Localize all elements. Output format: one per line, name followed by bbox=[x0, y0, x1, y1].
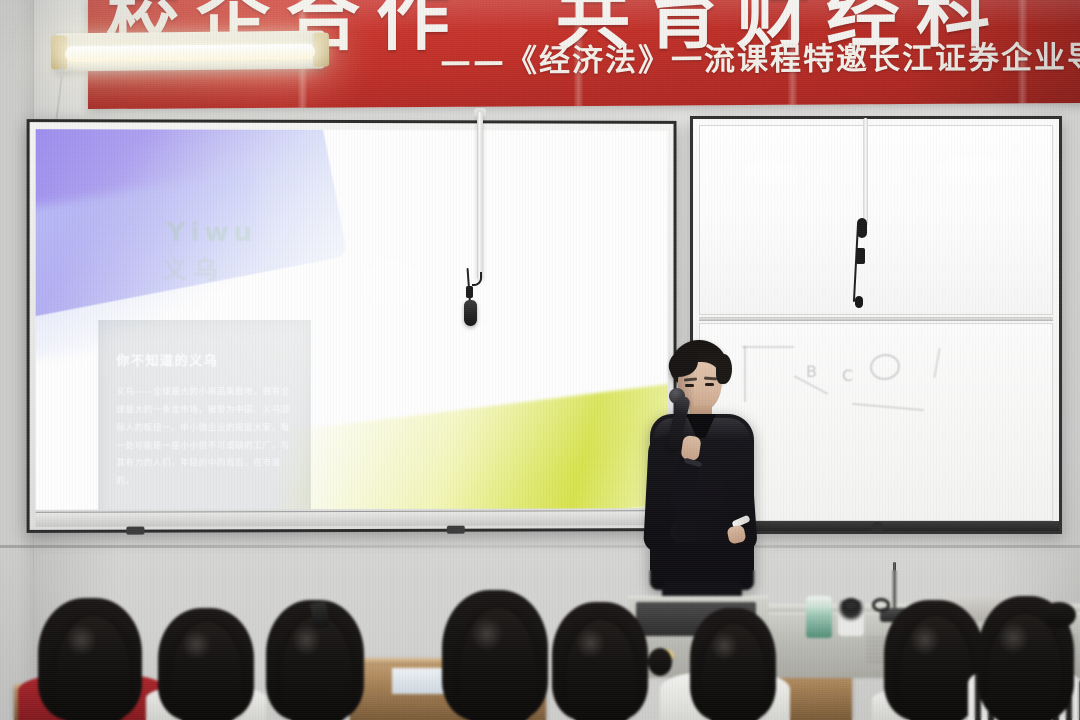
gooseneck-microphone-icon bbox=[893, 562, 896, 614]
slide-body-text: 义乌——全球最大的小商品集散地，拥有全球最大的一条龙市场，被誉为中国、义乌国际人… bbox=[116, 383, 293, 491]
student-hair-bun bbox=[648, 648, 672, 676]
cup-rim bbox=[842, 598, 860, 612]
whiteboard-faint-mark bbox=[852, 403, 924, 411]
speaker-eye bbox=[685, 384, 694, 387]
whiteboard-upper-pane bbox=[699, 125, 1053, 315]
slide-yellow-shape bbox=[275, 380, 667, 510]
whiteboard-letter-b: B bbox=[806, 362, 817, 381]
wall-trim-line bbox=[0, 545, 1080, 548]
whiteboard-glare bbox=[714, 146, 824, 198]
lamp-end-cap bbox=[313, 33, 329, 67]
projection-screen: Yiwu 义乌 你不知道的义乌 义乌——全球最大的小商品集散地，拥有全球最大的一… bbox=[27, 119, 677, 533]
speaker-eye bbox=[705, 383, 714, 386]
whiteboard-letter-c: C bbox=[842, 366, 853, 385]
ceiling-mic-tip bbox=[855, 296, 863, 308]
speaker-hair-side bbox=[716, 354, 732, 384]
thermos-cap bbox=[806, 596, 832, 605]
slide-wordmark-cn: 义乌 bbox=[163, 250, 225, 285]
screen-bottom-bar bbox=[36, 510, 668, 527]
screen-bracket bbox=[447, 526, 465, 534]
slide-wordmark-latin: Yiwu bbox=[167, 218, 258, 248]
classroom-photo: 校企合作 共育财经科 ——《经济法》一流课程特邀长江证券企业导 Yiwu 义乌 … bbox=[0, 0, 1080, 720]
microphone-icon bbox=[464, 300, 477, 326]
ceiling-mic-pole-secondary bbox=[863, 118, 868, 226]
ceiling-mic-clip bbox=[466, 286, 473, 298]
whiteboard-faint-mark bbox=[933, 348, 940, 378]
fluorescent-light-icon bbox=[55, 31, 325, 72]
slide-heading: 你不知道的义乌 bbox=[116, 350, 293, 369]
screen-surface: Yiwu 义乌 你不知道的义乌 义乌——全球最大的小商品集散地，拥有全球最大的一… bbox=[36, 129, 668, 510]
whiteboard-divider bbox=[699, 317, 1053, 321]
whiteboard-glare bbox=[896, 142, 1046, 194]
banner-subtitle: ——《经济法》一流课程特邀长江证券企业导 bbox=[440, 43, 1080, 78]
screen-bracket bbox=[126, 527, 144, 535]
slide-text-box: 你不知道的义乌 义乌——全球最大的小商品集散地，拥有全球最大的一条龙市场，被誉为… bbox=[98, 320, 311, 510]
ceiling-mic-pole bbox=[477, 112, 483, 280]
whiteboard-tray-knob bbox=[871, 522, 884, 534]
presentation-slide: Yiwu 义乌 你不知道的义乌 义乌——全球最大的小商品集散地，拥有全球最大的一… bbox=[36, 129, 668, 510]
student-hair-bun bbox=[1042, 602, 1076, 628]
cup-rim bbox=[872, 598, 890, 612]
whiteboard-faint-circle bbox=[868, 352, 901, 382]
lamp-tube bbox=[65, 44, 315, 63]
green-thermos bbox=[806, 602, 832, 638]
ceiling-mic-module bbox=[856, 248, 865, 264]
